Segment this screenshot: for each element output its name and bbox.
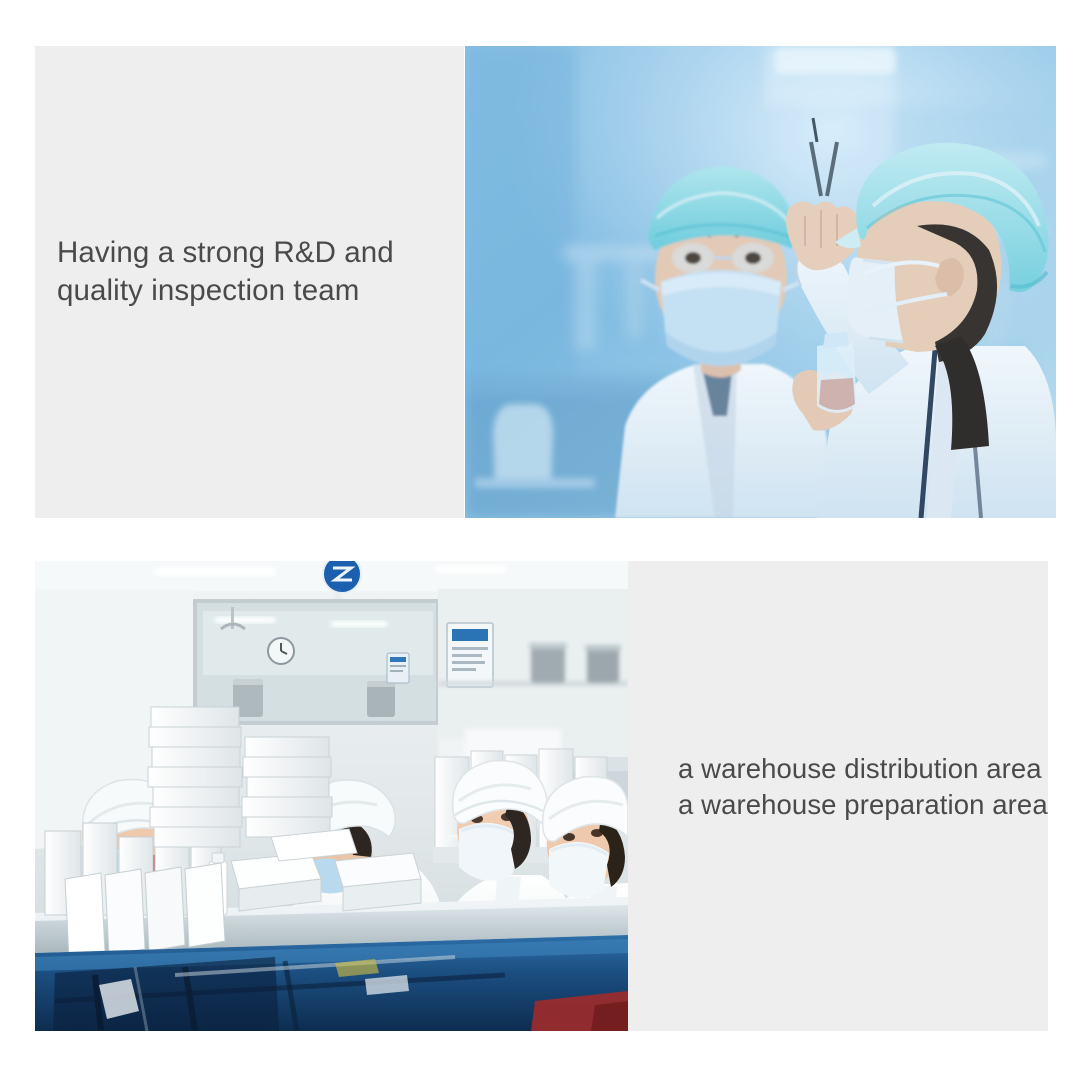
glass-window — [195, 601, 438, 723]
lab-scene-illustration — [465, 46, 1056, 518]
caption-panel-rnd: Having a strong R&D and quality inspecti… — [35, 46, 464, 518]
wall-sign-icon — [323, 561, 361, 593]
caption-panel-warehouse: a warehouse distribution area a warehous… — [628, 561, 1048, 1031]
caption-text-rnd: Having a strong R&D and quality inspecti… — [57, 234, 457, 310]
section-warehouse: a warehouse distribution area a warehous… — [35, 561, 1048, 1031]
section-rnd-quality: Having a strong R&D and quality inspecti… — [35, 46, 1056, 518]
packaging-workers-photo — [35, 561, 628, 1031]
lab-technicians-photo — [465, 46, 1056, 518]
caption-text-warehouse: a warehouse distribution area a warehous… — [678, 751, 1078, 824]
wall-placard — [447, 623, 493, 687]
packaging-room-illustration — [35, 561, 628, 1031]
